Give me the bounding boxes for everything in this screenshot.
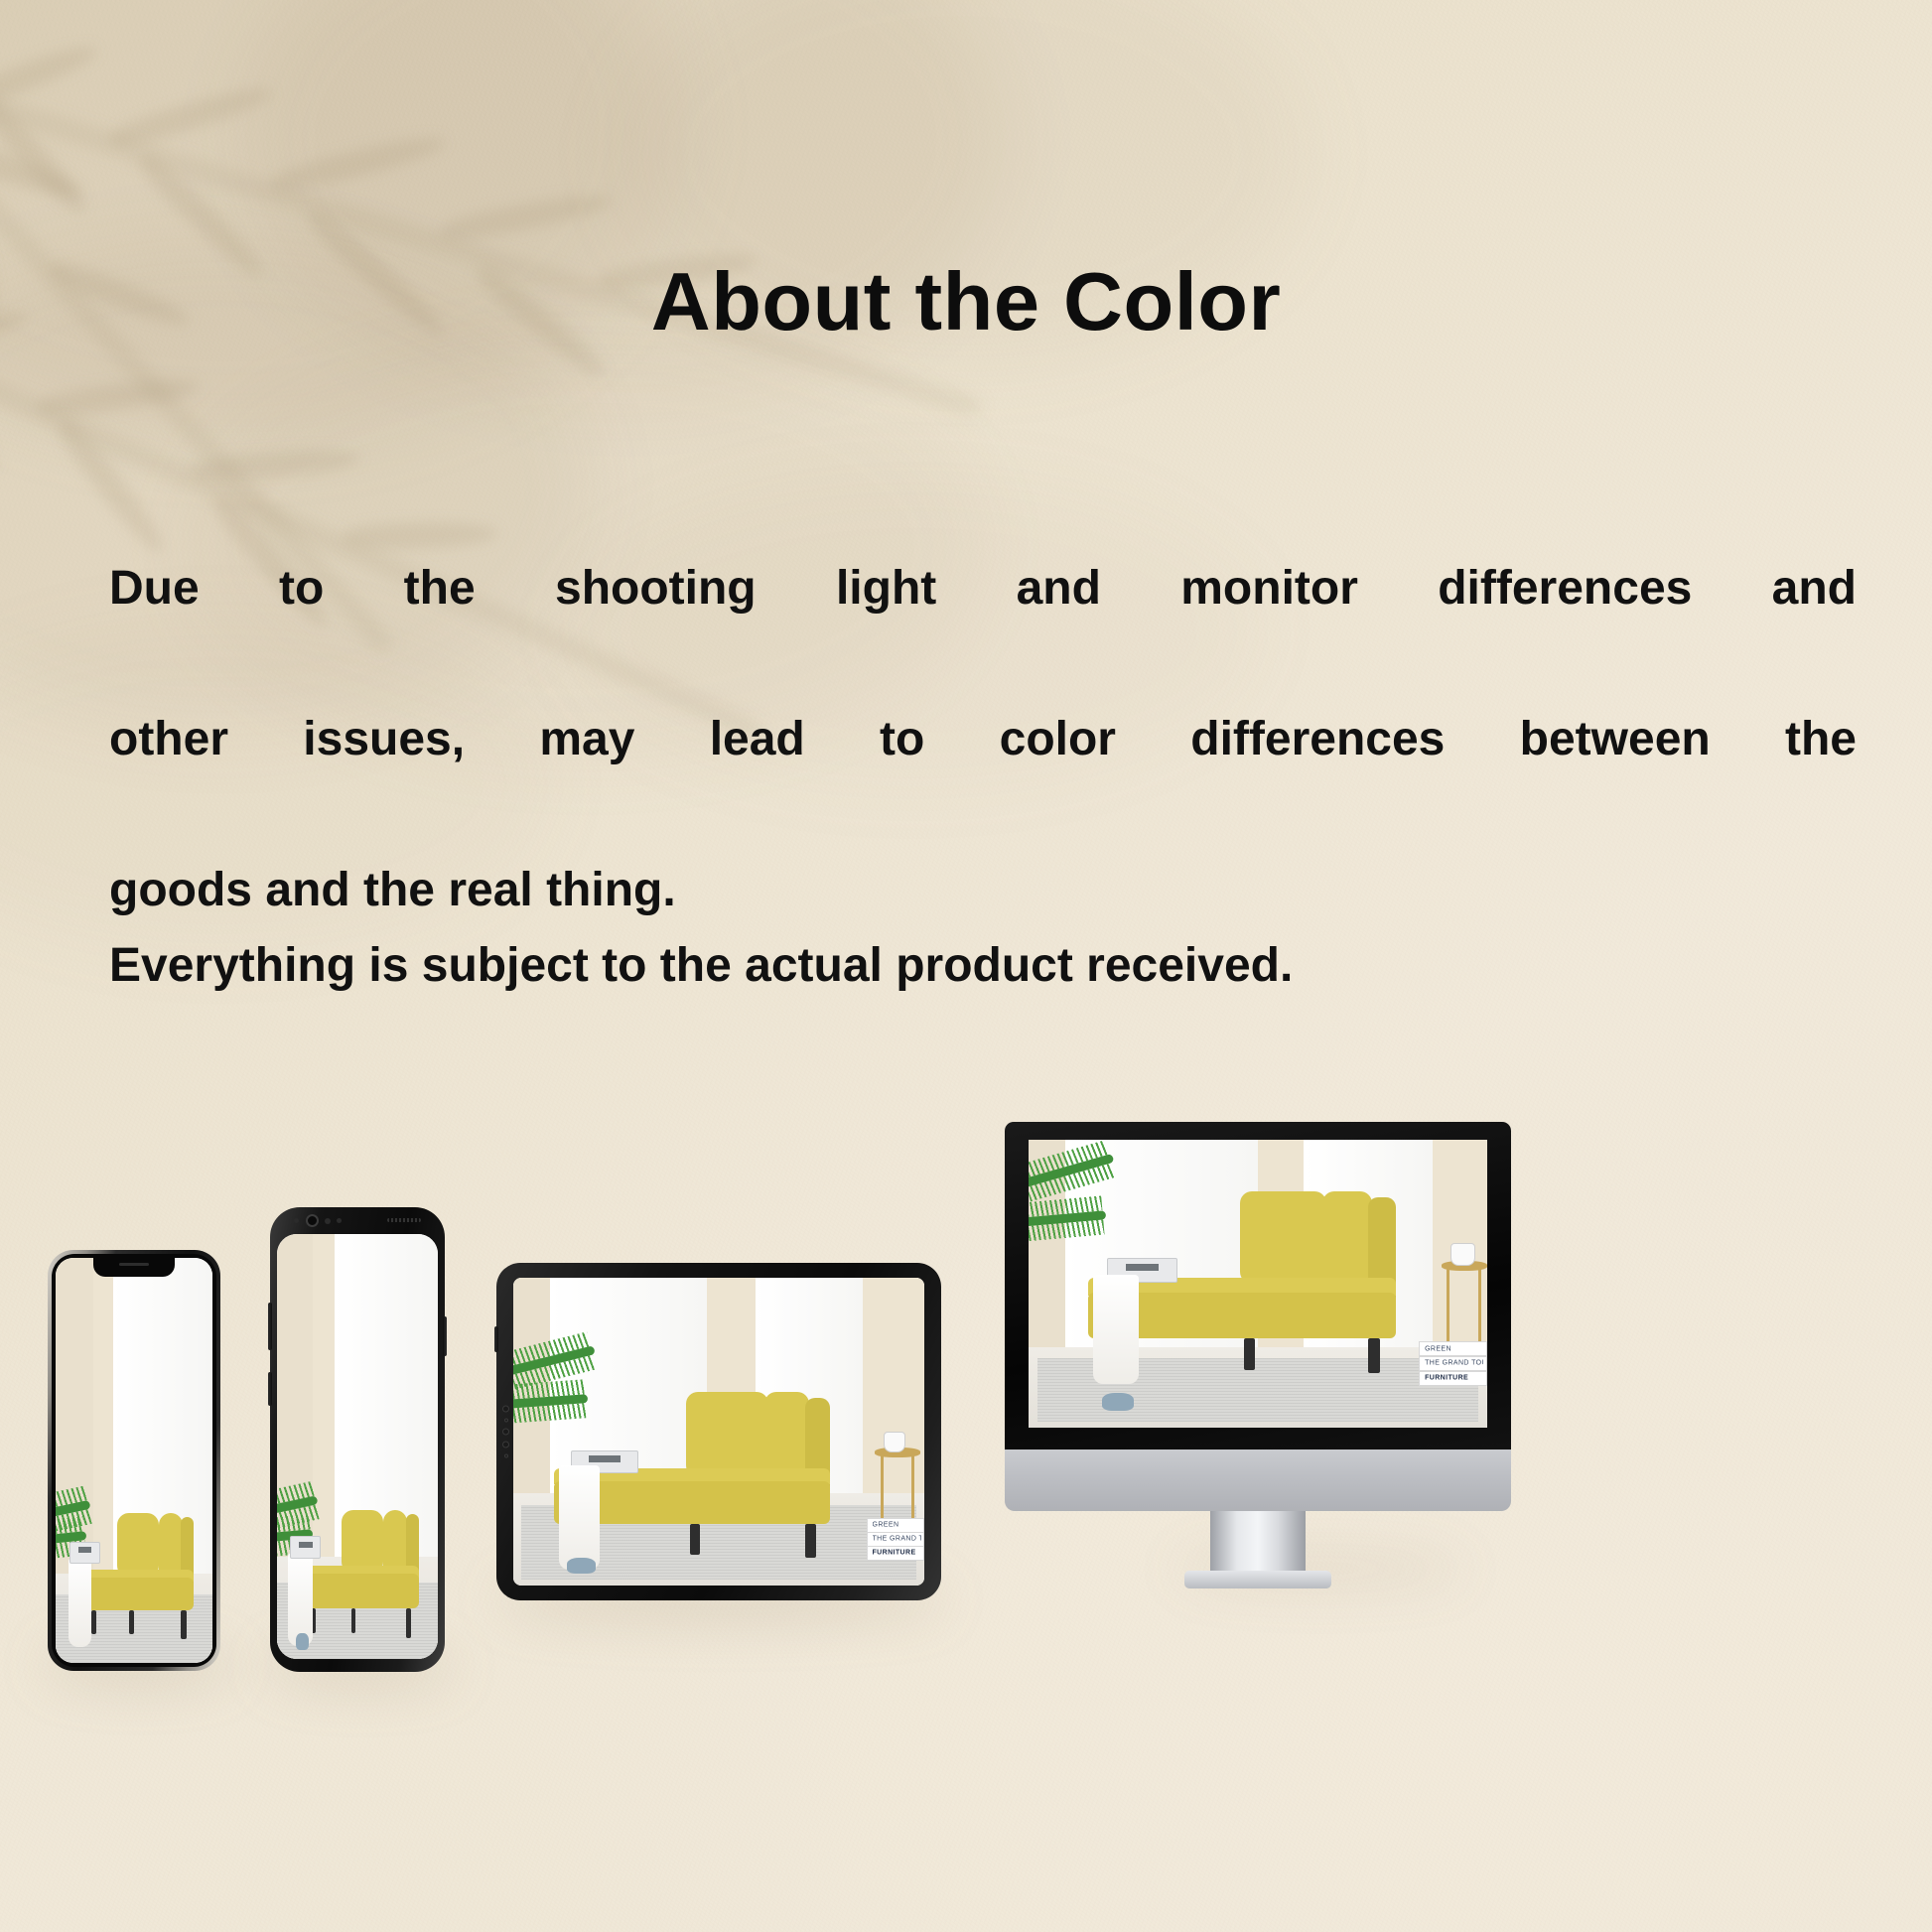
samsung-screen[interactable] bbox=[277, 1234, 438, 1659]
book-title-2: THE GRAND TOUR bbox=[1425, 1360, 1483, 1367]
book-title-2: THE GRAND TOUR bbox=[873, 1536, 921, 1543]
tablet-ambient-sensor-icon bbox=[502, 1442, 509, 1449]
tablet-power-button[interactable] bbox=[494, 1326, 498, 1352]
book-stack: GREEN THE GRAND TOUR FURNITURE bbox=[1419, 1341, 1487, 1385]
disclaimer-line-3: goods and the real thing. bbox=[109, 853, 1857, 928]
samsung-proximity-sensor bbox=[294, 1218, 299, 1223]
samsung-bixby-button[interactable] bbox=[268, 1372, 272, 1406]
book-stack: GREEN THE GRAND TOUR FURNITURE bbox=[867, 1518, 924, 1558]
samsung-speaker-grille bbox=[387, 1218, 421, 1222]
iphone-screen[interactable] bbox=[56, 1258, 212, 1663]
monitor-screen[interactable]: GREEN THE GRAND TOUR FURNITURE bbox=[1029, 1140, 1487, 1428]
samsung-top-sensor-bar bbox=[270, 1207, 445, 1234]
disclaimer-line-1: Due to the shooting light and monitor di… bbox=[109, 551, 1857, 702]
product-photo-tablet: GREEN THE GRAND TOUR FURNITURE bbox=[513, 1278, 924, 1586]
coffee-cup bbox=[884, 1432, 906, 1452]
samsung-power-button[interactable] bbox=[443, 1316, 447, 1356]
samsung-volume-button[interactable] bbox=[268, 1303, 272, 1350]
tablet-camera-icon bbox=[502, 1406, 509, 1413]
monitor-stand-neck bbox=[1210, 1511, 1306, 1579]
tablet-camera-array bbox=[502, 1400, 509, 1464]
tablet-sensor-icon bbox=[504, 1419, 508, 1423]
book-title-3: FURNITURE bbox=[1425, 1375, 1483, 1382]
product-photo-monitor: GREEN THE GRAND TOUR FURNITURE bbox=[1029, 1140, 1487, 1428]
disclaimer-line-4: Everything is subject to the actual prod… bbox=[109, 928, 1857, 1004]
device-smartphone-curved bbox=[270, 1207, 445, 1672]
monitor-chin bbox=[1005, 1449, 1511, 1511]
device-tablet: GREEN THE GRAND TOUR FURNITURE bbox=[496, 1263, 941, 1600]
page-title: About the Color bbox=[0, 260, 1932, 343]
samsung-front-camera-icon bbox=[306, 1214, 319, 1227]
product-photo-iphone bbox=[56, 1258, 212, 1663]
device-desktop-monitor: GREEN THE GRAND TOUR FURNITURE bbox=[1005, 1122, 1511, 1559]
book-title-1: GREEN bbox=[873, 1522, 921, 1529]
device-smartphone-notch bbox=[48, 1250, 220, 1671]
samsung-light-sensor bbox=[337, 1218, 342, 1223]
poster-canvas: About the Color Due to the shooting ligh… bbox=[0, 0, 1932, 1932]
product-photo-samsung bbox=[277, 1234, 438, 1659]
book-title-3: FURNITURE bbox=[873, 1550, 921, 1557]
tablet-mic-icon bbox=[504, 1454, 508, 1458]
book-title-1: GREEN bbox=[1425, 1345, 1483, 1352]
disclaimer-line-2: other issues, may lead to color differen… bbox=[109, 702, 1857, 853]
tablet-face-id-icon bbox=[502, 1429, 509, 1436]
tablet-screen[interactable]: GREEN THE GRAND TOUR FURNITURE bbox=[513, 1278, 924, 1586]
monitor-stand-base bbox=[1184, 1571, 1331, 1588]
side-table bbox=[1442, 1261, 1487, 1347]
disclaimer-text-block: Due to the shooting light and monitor di… bbox=[109, 551, 1857, 1004]
samsung-iris-sensor bbox=[325, 1218, 331, 1224]
coffee-cup bbox=[1450, 1243, 1475, 1265]
iphone-earpiece-speaker bbox=[119, 1263, 149, 1266]
iphone-notch bbox=[93, 1257, 175, 1277]
